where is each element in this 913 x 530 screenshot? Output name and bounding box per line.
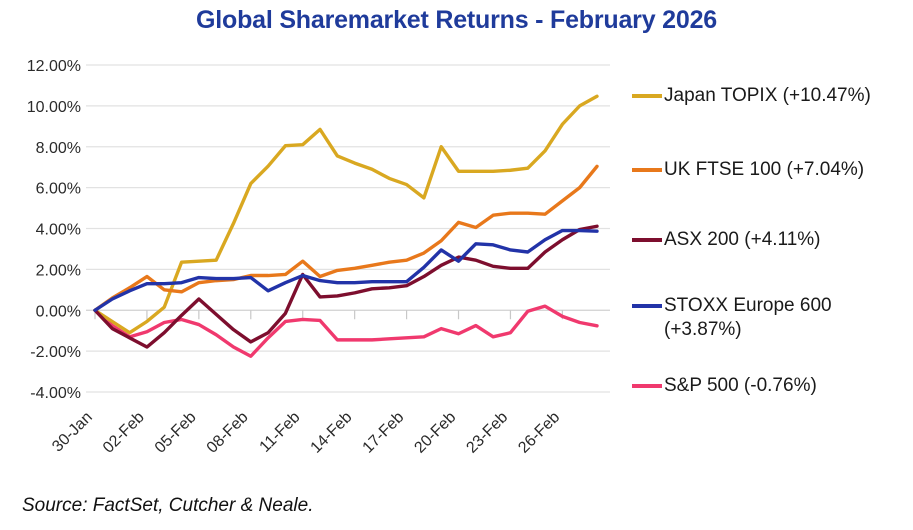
x-axis-tick-label: 11-Feb bbox=[257, 409, 304, 456]
x-axis-tick-label: 30-Jan bbox=[49, 409, 96, 456]
legend-label-japan-topix: Japan TOPIX (+10.47%) bbox=[664, 85, 871, 106]
y-axis-tick-label: 8.00% bbox=[36, 140, 81, 157]
gridlines-group bbox=[86, 65, 610, 392]
plot-area-container: 12.00%10.00%8.00%6.00%4.00%2.00%0.00%-2.… bbox=[0, 0, 913, 500]
legend-label-stoxx-europe-600: STOXX Europe 600 bbox=[664, 295, 832, 316]
x-axis-tick-label: 26-Feb bbox=[515, 409, 563, 457]
x-axis-tick-label: 23-Feb bbox=[463, 409, 511, 457]
x-axis-tick-label: 05-Feb bbox=[152, 409, 200, 457]
y-axis-tick-label: -2.00% bbox=[30, 344, 81, 361]
x-axis-tick-label: 20-Feb bbox=[411, 409, 459, 457]
series-line-s-p-500 bbox=[95, 306, 597, 356]
x-axis-tick-label: 14-Feb bbox=[308, 409, 356, 457]
source-note: Source: FactSet, Cutcher & Neale. bbox=[22, 495, 313, 517]
y-axis-tick-label: 2.00% bbox=[36, 262, 81, 279]
legend-label-asx-200: ASX 200 (+4.11%) bbox=[664, 229, 821, 250]
y-axis-tick-label: 10.00% bbox=[27, 99, 81, 116]
legend-label-sp-500: S&P 500 (-0.76%) bbox=[664, 375, 817, 396]
x-axis-tick-label: 08-Feb bbox=[204, 409, 252, 457]
series-line-asx-200 bbox=[95, 226, 597, 347]
chart-page: Global Sharemarket Returns - February 20… bbox=[0, 0, 913, 530]
legend-label-stoxx-europe-600-line2: (+3.87%) bbox=[664, 319, 742, 340]
y-axis-tick-label: 4.00% bbox=[36, 222, 81, 239]
y-axis-tick-label: 6.00% bbox=[36, 181, 81, 198]
y-axis-tick-label: 12.00% bbox=[27, 58, 81, 75]
x-axis-tick-label: 17-Feb bbox=[360, 409, 408, 457]
y-axis-tick-labels: 12.00%10.00%8.00%6.00%4.00%2.00%0.00%-2.… bbox=[27, 58, 81, 402]
y-axis-tick-label: 0.00% bbox=[36, 303, 81, 320]
data-series-group bbox=[95, 96, 597, 356]
legend-label-uk-ftse-100: UK FTSE 100 (+7.04%) bbox=[664, 159, 864, 180]
x-axis-tick-labels: 30-Jan02-Feb05-Feb08-Feb11-Feb14-Feb17-F… bbox=[49, 409, 563, 457]
chart-legend: Japan TOPIX (+10.47%)UK FTSE 100 (+7.04%… bbox=[632, 85, 871, 396]
x-axis-tickmarks bbox=[95, 310, 562, 319]
x-axis-tick-label: 02-Feb bbox=[100, 409, 148, 457]
y-axis-tick-label: -4.00% bbox=[30, 385, 81, 402]
line-chart-svg: 12.00%10.00%8.00%6.00%4.00%2.00%0.00%-2.… bbox=[0, 0, 913, 500]
